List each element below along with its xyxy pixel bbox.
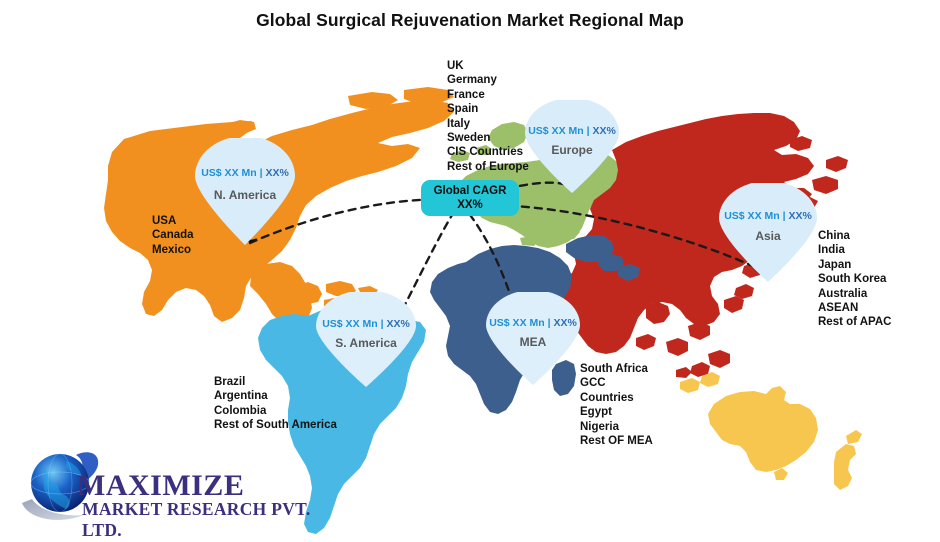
pin-label-asia: Asia <box>713 229 823 243</box>
pin-value-asia: US$ XX Mn | XX% <box>713 210 823 222</box>
country-list-south-america: Brazil Argentina Colombia Rest of South … <box>214 375 337 433</box>
region-shape-oceania <box>680 372 862 490</box>
pin-value-europe: US$ XX Mn | XX% <box>519 125 625 137</box>
pin-value-south-america: US$ XX Mn | XX% <box>310 318 422 330</box>
country-list-north-america: USA Canada Mexico <box>152 214 194 257</box>
map-pin-mea[interactable]: US$ XX Mn | XX% MEA <box>480 292 586 386</box>
infographic-canvas: Global Surgical Rejuvenation Market Regi… <box>0 0 940 542</box>
country-list-asia: China India Japan South Korea Australia … <box>818 229 891 330</box>
pin-label-europe: Europe <box>519 143 625 157</box>
country-list-mea: South Africa GCC Countries Egypt Nigeria… <box>580 362 653 448</box>
country-list-europe: UK Germany France Spain Italy Sweden CIS… <box>447 59 529 174</box>
map-pin-north-america[interactable]: US$ XX Mn | XX% N. America <box>189 138 301 246</box>
logo-name-bottom: MARKET RESEARCH PVT. LTD. <box>82 499 314 541</box>
pin-label-north-america: N. America <box>189 188 301 202</box>
pin-label-south-america: S. America <box>310 336 422 350</box>
pin-value-mea: US$ XX Mn | XX% <box>480 317 586 329</box>
global-cagr-value: XX% <box>457 198 483 212</box>
company-logo[interactable]: MAXIMIZE MARKET RESEARCH PVT. LTD. <box>14 443 314 535</box>
logo-name-top: MAXIMIZE <box>77 469 244 503</box>
map-pin-asia[interactable]: US$ XX Mn | XX% Asia <box>713 183 823 283</box>
global-cagr-badge[interactable]: Global CAGR XX% <box>421 180 519 216</box>
global-cagr-label: Global CAGR <box>434 184 507 198</box>
pin-value-north-america: US$ XX Mn | XX% <box>189 167 301 179</box>
pin-label-mea: MEA <box>480 335 586 349</box>
map-pin-south-america[interactable]: US$ XX Mn | XX% S. America <box>310 292 422 388</box>
map-pin-europe[interactable]: US$ XX Mn | XX% Europe <box>519 100 625 194</box>
